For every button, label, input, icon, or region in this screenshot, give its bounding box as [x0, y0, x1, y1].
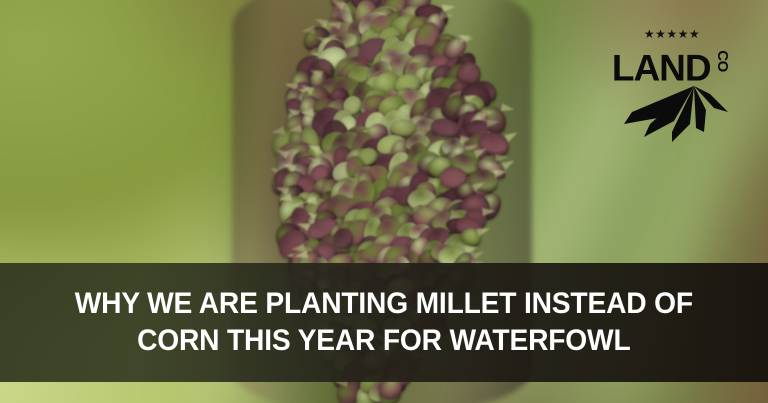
millet-bract-tip — [483, 207, 497, 216]
headline-container: WHY WE ARE PLANTING MILLET INSTEAD OF CO… — [0, 263, 768, 382]
logo-field-rays-icon — [606, 84, 738, 142]
millet-bract-tip — [441, 11, 454, 19]
millet-bract-tip — [504, 129, 519, 142]
millet-bract-tip — [461, 34, 474, 42]
logo-superscript-co: CO — [701, 50, 741, 72]
millet-bract-tip — [482, 108, 496, 117]
article-hero-banner: ★★★★★ LANDCO WHY WE ARE PLANTING MILLET … — [0, 0, 768, 403]
millet-bract-tip — [300, 108, 314, 117]
headline-line-2: CORN THIS YEAR FOR WATERFOWL — [137, 324, 630, 357]
logo-wordmark: LANDCO — [606, 43, 738, 88]
headline-overlay-band: WHY WE ARE PLANTING MILLET INSTEAD OF CO… — [0, 263, 768, 382]
logo-wordmark-text: LAND — [612, 47, 711, 88]
millet-seed — [333, 228, 353, 249]
millet-bract-tip — [303, 196, 317, 206]
headline-line-1: WHY WE ARE PLANTING MILLET INSTEAD OF — [75, 287, 693, 320]
logo-stars: ★★★★★ — [606, 28, 738, 40]
page-title: WHY WE ARE PLANTING MILLET INSTEAD OF CO… — [75, 286, 693, 359]
millet-bract-tip — [486, 117, 500, 127]
land-co-logo[interactable]: ★★★★★ LANDCO — [606, 26, 738, 144]
